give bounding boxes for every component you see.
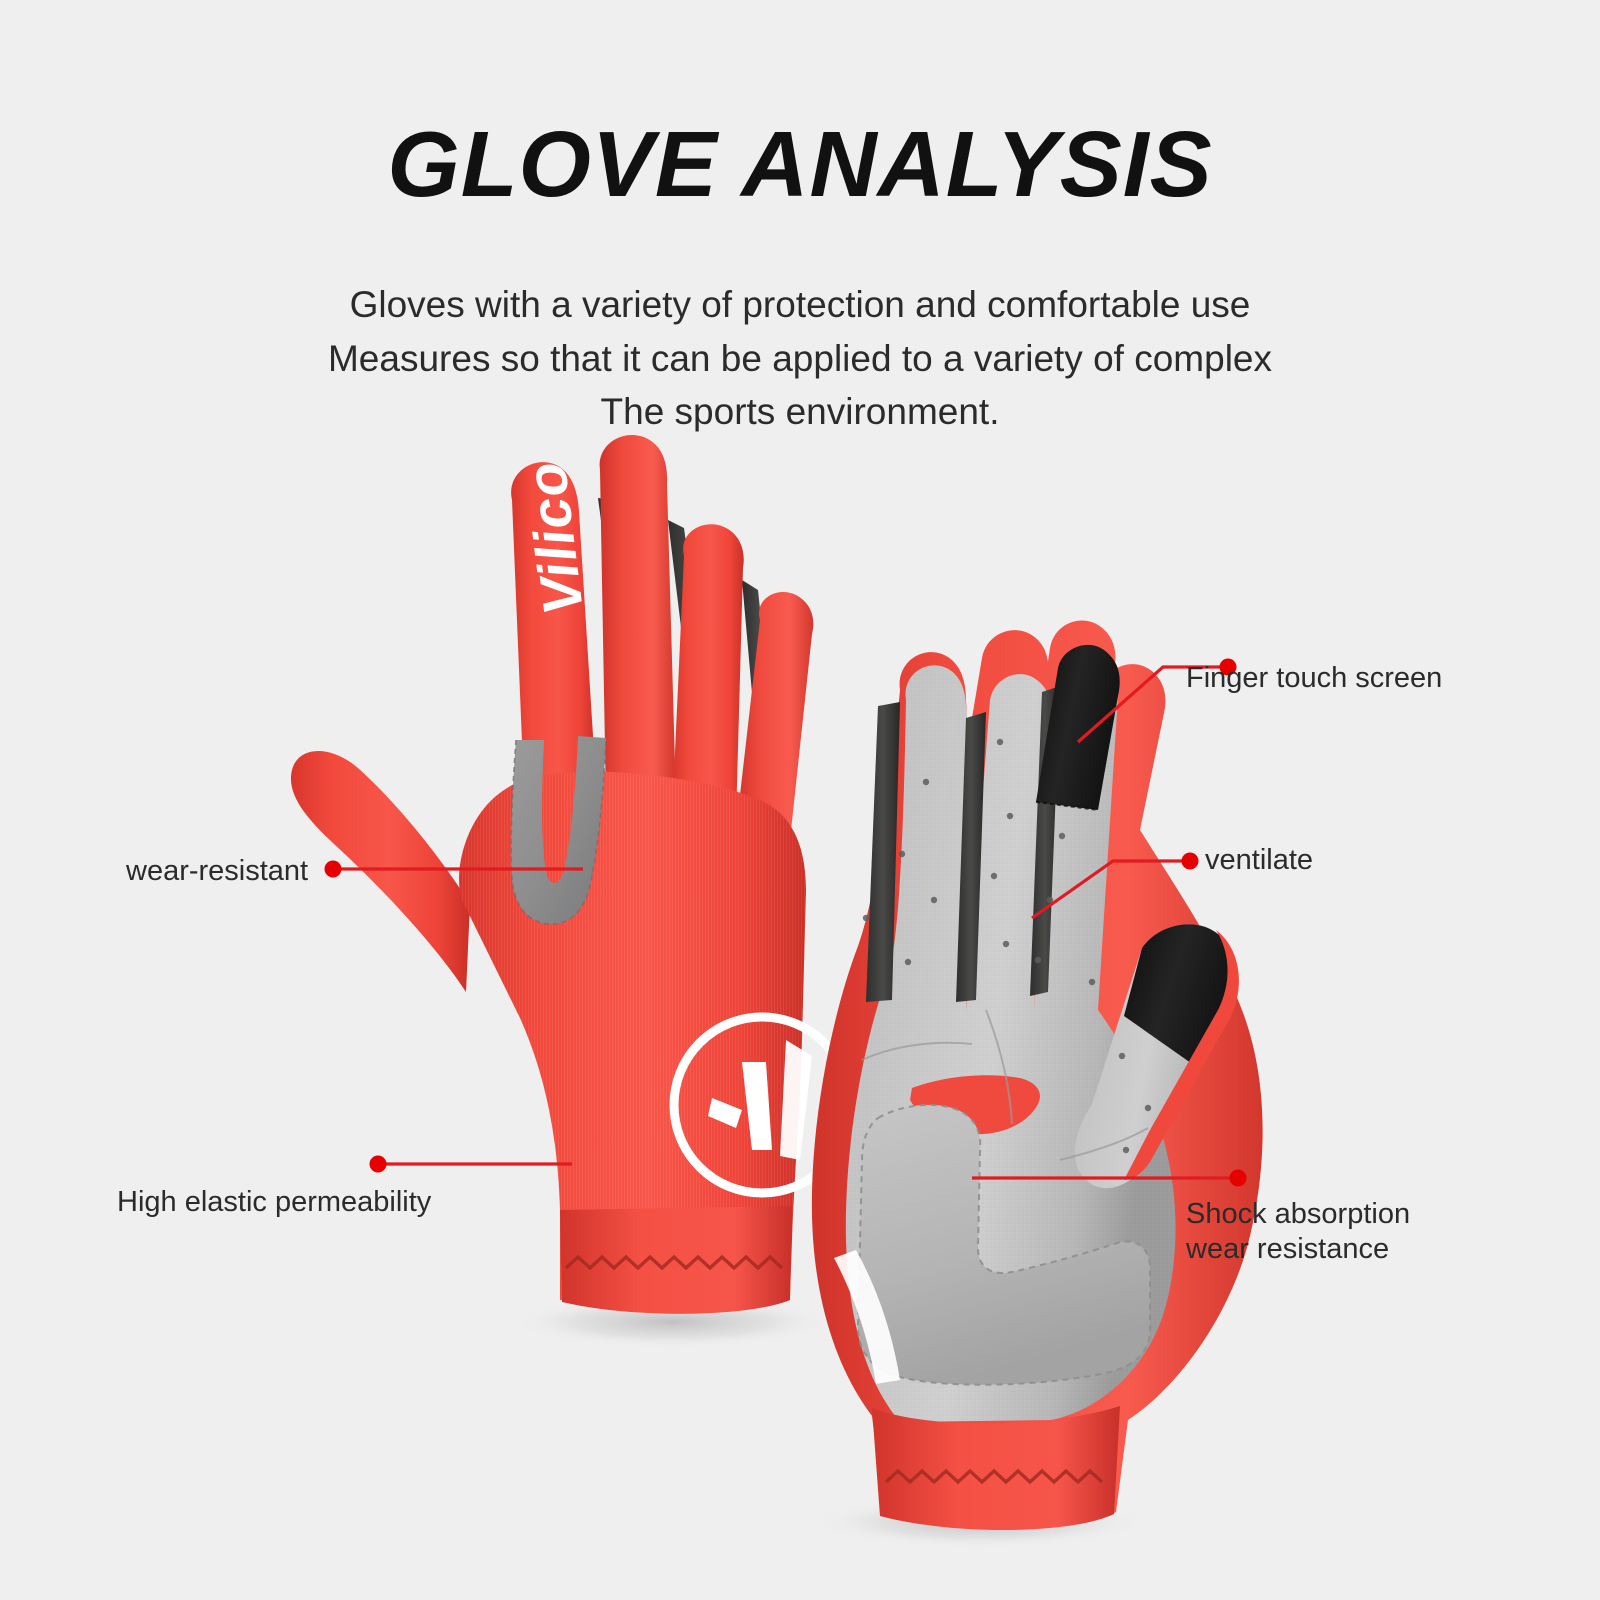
left-glove-thumb xyxy=(291,751,470,992)
callout-label-wear-resistant: wear-resistant xyxy=(126,854,308,889)
callout-label-ventilate: ventilate xyxy=(1205,843,1313,878)
page-subtitle: Gloves with a variety of protection and … xyxy=(0,278,1600,439)
callout-label-high-elastic-permeability: High elastic permeability xyxy=(117,1185,431,1220)
left-glove-middle-finger xyxy=(600,435,676,804)
glove-analysis-infographic: GLOVE ANALYSIS Gloves with a variety of … xyxy=(0,0,1600,1600)
right-glove-shadow xyxy=(815,1496,1145,1548)
right-glove-palm-suede xyxy=(846,647,1176,1422)
right-glove-palm-pad xyxy=(858,1105,1150,1385)
left-glove-cuff-stitch xyxy=(566,1257,782,1268)
leader-dot-elastic xyxy=(370,1156,387,1173)
leader-dot-vent xyxy=(1182,853,1199,870)
right-glove-red-backing xyxy=(812,621,1263,1528)
brand-wordmark: Vilico xyxy=(514,458,595,618)
subtitle-line-2: Measures so that it can be applied to a … xyxy=(0,332,1600,386)
right-glove-thumb-red-edge xyxy=(1124,930,1239,1180)
palm-seams xyxy=(862,1010,1148,1160)
right-glove-finger-side-panels xyxy=(866,686,1060,1002)
leader-dot-shock xyxy=(1230,1170,1247,1187)
left-glove-ring-finger xyxy=(672,524,744,820)
left-glove-body xyxy=(459,771,806,1300)
leader-line-vent xyxy=(1032,861,1190,918)
callout-leader-lines xyxy=(333,667,1238,1178)
left-glove-cuff xyxy=(560,1206,792,1314)
right-glove-cuff xyxy=(872,1406,1120,1530)
page-title: GLOVE ANALYSIS xyxy=(0,118,1600,211)
right-glove-palm-red-wedge xyxy=(910,1075,1040,1134)
callout-leader-dots xyxy=(325,659,1247,1187)
vilico-circle-logo xyxy=(674,1017,850,1193)
left-glove-index-finger xyxy=(511,462,596,790)
left-glove-finger-gussets xyxy=(598,498,780,806)
right-glove-thumb-touchscreen-tip xyxy=(1124,924,1236,1068)
left-glove-shadow xyxy=(512,1296,832,1348)
left-glove-thumb-web-patch xyxy=(511,736,606,924)
right-glove-palm xyxy=(812,621,1263,1530)
left-glove-back: Vilico xyxy=(291,435,850,1314)
right-glove-index-touchscreen-tip xyxy=(1036,645,1120,810)
subtitle-line-3: The sports environment. xyxy=(0,385,1600,439)
callout-label-shock-absorption: Shock absorption wear resistance xyxy=(1186,1197,1410,1268)
glove-illustration: Vilico xyxy=(0,0,1600,1600)
right-glove-thumb xyxy=(1075,924,1237,1188)
leader-dot-wear xyxy=(325,861,342,878)
ventilation-holes xyxy=(863,739,1151,1153)
left-glove-pinky-finger xyxy=(736,592,813,840)
subtitle-line-1: Gloves with a variety of protection and … xyxy=(0,278,1600,332)
right-glove-cuff-logo-mark xyxy=(834,1250,900,1384)
callout-label-finger-touch-screen: Finger touch screen xyxy=(1186,661,1442,696)
right-glove-cuff-stitch xyxy=(886,1471,1102,1482)
